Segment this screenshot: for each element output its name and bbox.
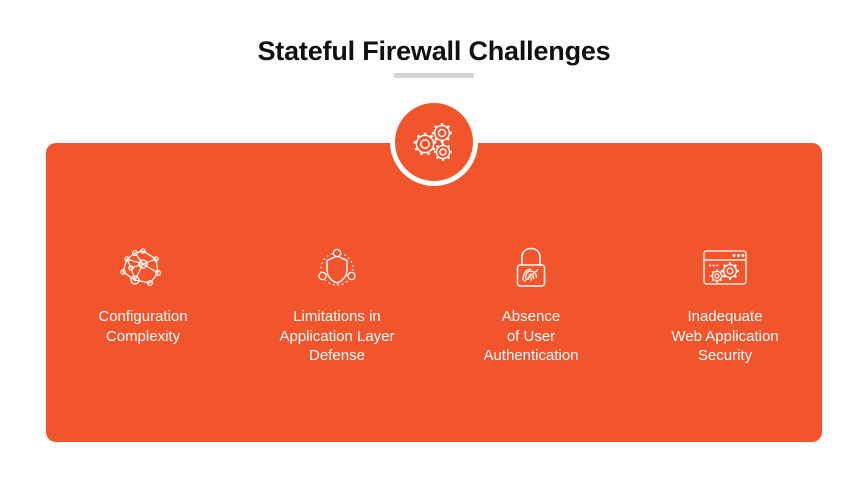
gears-icon: [411, 120, 457, 164]
challenges-list: Configuration Complexity Limitations in …: [46, 245, 822, 366]
challenge-item-label: Limitations in Application Layer Defense: [279, 307, 394, 366]
challenge-item-configuration-complexity: Configuration Complexity: [49, 245, 237, 346]
padlock-no-fingerprint-icon: [511, 245, 551, 291]
challenge-item-label: Configuration Complexity: [98, 307, 187, 346]
browser-window-gears-icon: [701, 245, 749, 291]
challenge-item-application-layer-defense: Limitations in Application Layer Defense: [243, 245, 431, 366]
shield-nodes-icon: [315, 245, 359, 291]
badge-circle: [390, 98, 478, 186]
page-title: Stateful Firewall Challenges: [0, 36, 868, 67]
slide-root: Stateful Firewall Challenges: [0, 0, 868, 488]
challenge-item-label: Absence of User Authentication: [483, 307, 578, 366]
network-nodes-icon: [117, 245, 169, 291]
challenge-item-web-application-security: Inadequate Web Application Security: [631, 245, 819, 366]
title-divider: [394, 73, 474, 78]
challenge-item-label: Inadequate Web Application Security: [671, 307, 778, 366]
challenge-item-user-authentication: Absence of User Authentication: [437, 245, 625, 366]
